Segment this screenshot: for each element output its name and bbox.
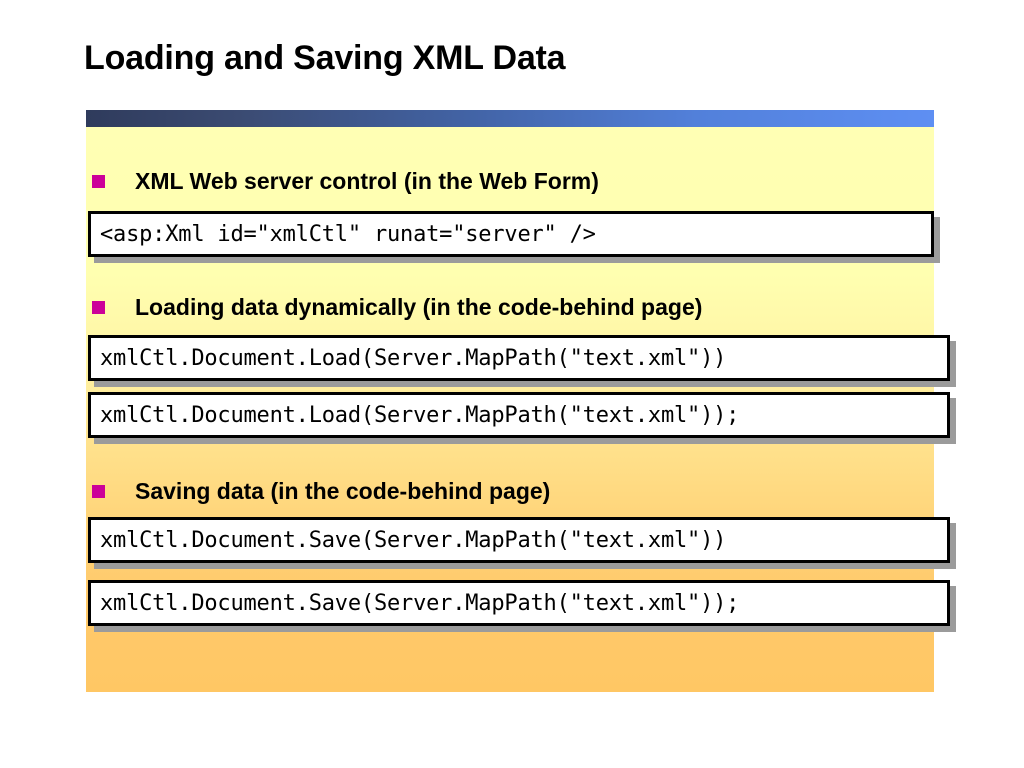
page-title: Loading and Saving XML Data [84, 38, 964, 78]
code-box-save-vb: xmlCtl.Document.Save(Server.MapPath("tex… [88, 517, 950, 563]
code-box-load-csharp: xmlCtl.Document.Load(Server.MapPath("tex… [88, 392, 950, 438]
bullet-square-icon [92, 485, 105, 498]
code-text: xmlCtl.Document.Load(Server.MapPath("tex… [91, 346, 726, 371]
code-box-save-csharp: xmlCtl.Document.Save(Server.MapPath("tex… [88, 580, 950, 626]
code-text: xmlCtl.Document.Save(Server.MapPath("tex… [91, 591, 739, 616]
slide: Loading and Saving XML Data XML Web serv… [0, 0, 1024, 768]
code-text: xmlCtl.Document.Load(Server.MapPath("tex… [91, 403, 739, 428]
bullet-square-icon [92, 175, 105, 188]
bullet-item-saving-data: Saving data (in the code-behind page) [86, 474, 934, 508]
code-text: <asp:Xml id="xmlCtl" runat="server" /> [91, 222, 596, 247]
code-box-asp-xml-control: <asp:Xml id="xmlCtl" runat="server" /> [88, 211, 934, 257]
bullet-label: Loading data dynamically (in the code-be… [135, 290, 702, 324]
code-box-load-vb: xmlCtl.Document.Load(Server.MapPath("tex… [88, 335, 950, 381]
bullet-item-loading-data-dynamically: Loading data dynamically (in the code-be… [86, 290, 934, 324]
code-text: xmlCtl.Document.Save(Server.MapPath("tex… [91, 528, 726, 553]
accent-gradient-bar [86, 110, 934, 127]
content-panel: XML Web server control (in the Web Form)… [86, 127, 934, 692]
bullet-label: XML Web server control (in the Web Form) [135, 164, 599, 198]
bullet-label: Saving data (in the code-behind page) [135, 474, 550, 508]
bullet-item-xml-web-server-control: XML Web server control (in the Web Form) [86, 164, 934, 198]
bullet-square-icon [92, 301, 105, 314]
